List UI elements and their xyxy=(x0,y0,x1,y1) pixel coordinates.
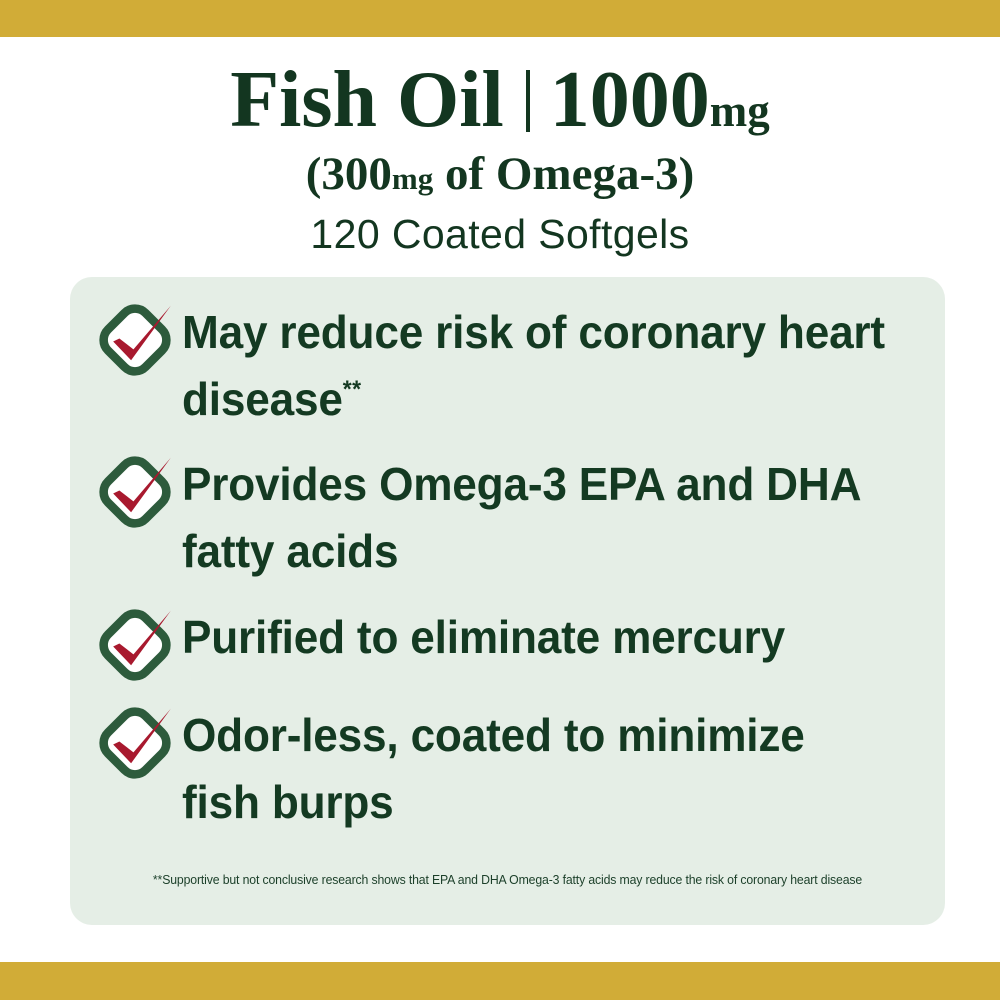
benefit-text: Odor-less, coated to minimize fish burps xyxy=(182,709,805,828)
benefit-label: May reduce risk of coronary heart diseas… xyxy=(182,299,890,433)
benefits-card: May reduce risk of coronary heart diseas… xyxy=(70,277,945,925)
top-gold-bar xyxy=(0,0,1000,37)
list-item: Purified to eliminate mercury xyxy=(96,604,919,684)
omega-subtitle: (300mg of Omega-3) xyxy=(0,151,1000,198)
strength-value: 1000 xyxy=(550,56,710,144)
product-name: Fish Oil xyxy=(230,56,503,144)
strength-unit: mg xyxy=(710,86,770,136)
footnote-marker: ** xyxy=(343,376,362,403)
bottom-gold-bar xyxy=(0,962,1000,1000)
product-title: Fish Oil1000mg xyxy=(0,60,1000,140)
disclaimer-footnote: **Supportive but not conclusive research… xyxy=(101,872,915,887)
benefit-text: Provides Omega-3 EPA and DHA fatty acids xyxy=(182,458,860,577)
subtitle-unit: mg xyxy=(392,161,433,196)
check-mark-icon xyxy=(96,453,174,531)
check-mark-icon xyxy=(96,704,174,782)
benefit-text: Purified to eliminate mercury xyxy=(182,611,785,663)
softgel-count: 120 Coated Softgels xyxy=(0,214,1000,255)
product-info-graphic: Fish Oil1000mg (300mg of Omega-3) 120 Co… xyxy=(0,0,1000,1000)
list-item: Provides Omega-3 EPA and DHA fatty acids xyxy=(96,451,919,585)
benefits-list: May reduce risk of coronary heart diseas… xyxy=(96,299,919,836)
benefit-label: Odor-less, coated to minimize fish burps xyxy=(182,702,890,836)
list-item: Odor-less, coated to minimize fish burps xyxy=(96,702,919,836)
check-mark-icon xyxy=(96,606,174,684)
title-divider-rule xyxy=(526,70,530,132)
benefit-label: Provides Omega-3 EPA and DHA fatty acids xyxy=(182,451,890,585)
subtitle-open-paren: ( xyxy=(306,148,322,200)
check-mark-icon xyxy=(96,301,174,379)
benefit-label: Purified to eliminate mercury xyxy=(182,604,785,671)
benefit-text: May reduce risk of coronary heart diseas… xyxy=(182,306,885,425)
list-item: May reduce risk of coronary heart diseas… xyxy=(96,299,919,433)
subtitle-value: 300 xyxy=(321,148,392,200)
subtitle-rest: of Omega-3) xyxy=(433,148,694,200)
header-block: Fish Oil1000mg (300mg of Omega-3) 120 Co… xyxy=(0,37,1000,255)
